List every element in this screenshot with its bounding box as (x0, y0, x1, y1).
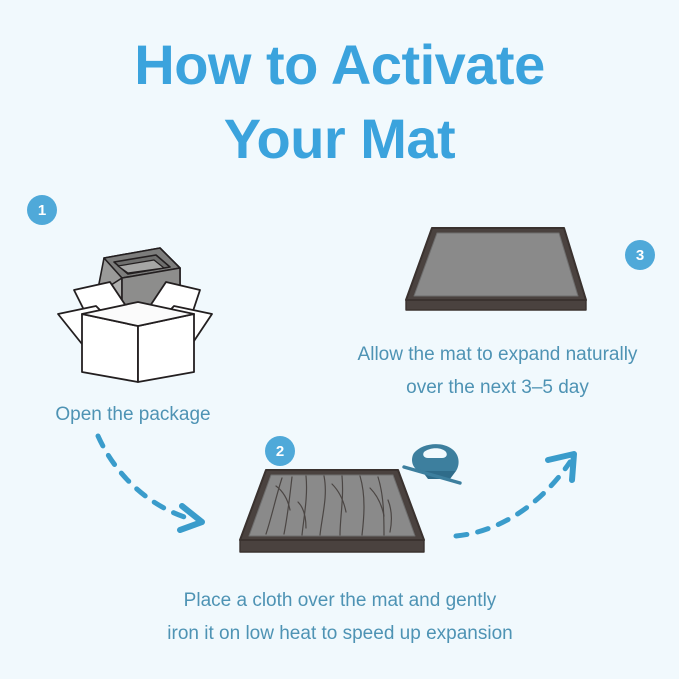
arrow-step2-to-step3-icon (452, 440, 592, 550)
page-title: How to Activate Your Mat (0, 28, 679, 176)
step-badge-1: 1 (27, 195, 57, 225)
step-2-caption: Place a cloth over the mat and gently ir… (100, 584, 580, 651)
step-1-caption: Open the package (0, 398, 266, 431)
step-3-caption-line-2: over the next 3–5 day (316, 371, 679, 404)
title-line-2: Your Mat (0, 102, 679, 176)
step-1-caption-line-1: Open the package (0, 398, 266, 431)
step-badge-2: 2 (265, 436, 295, 466)
infographic-canvas: How to Activate Your Mat 1 (0, 0, 679, 679)
flat-expanded-mat-icon (398, 222, 596, 318)
step-3-caption-line-1: Allow the mat to expand naturally (316, 338, 679, 371)
step-badge-3: 3 (625, 240, 655, 270)
arrow-step1-to-step2-icon (90, 432, 220, 542)
open-cardboard-box-with-mat-icon (52, 222, 222, 392)
title-line-1: How to Activate (0, 28, 679, 102)
step-2-caption-line-2: iron it on low heat to speed up expansio… (100, 617, 580, 650)
step-2-caption-line-1: Place a cloth over the mat and gently (100, 584, 580, 617)
step-3-caption: Allow the mat to expand naturally over t… (316, 338, 679, 405)
